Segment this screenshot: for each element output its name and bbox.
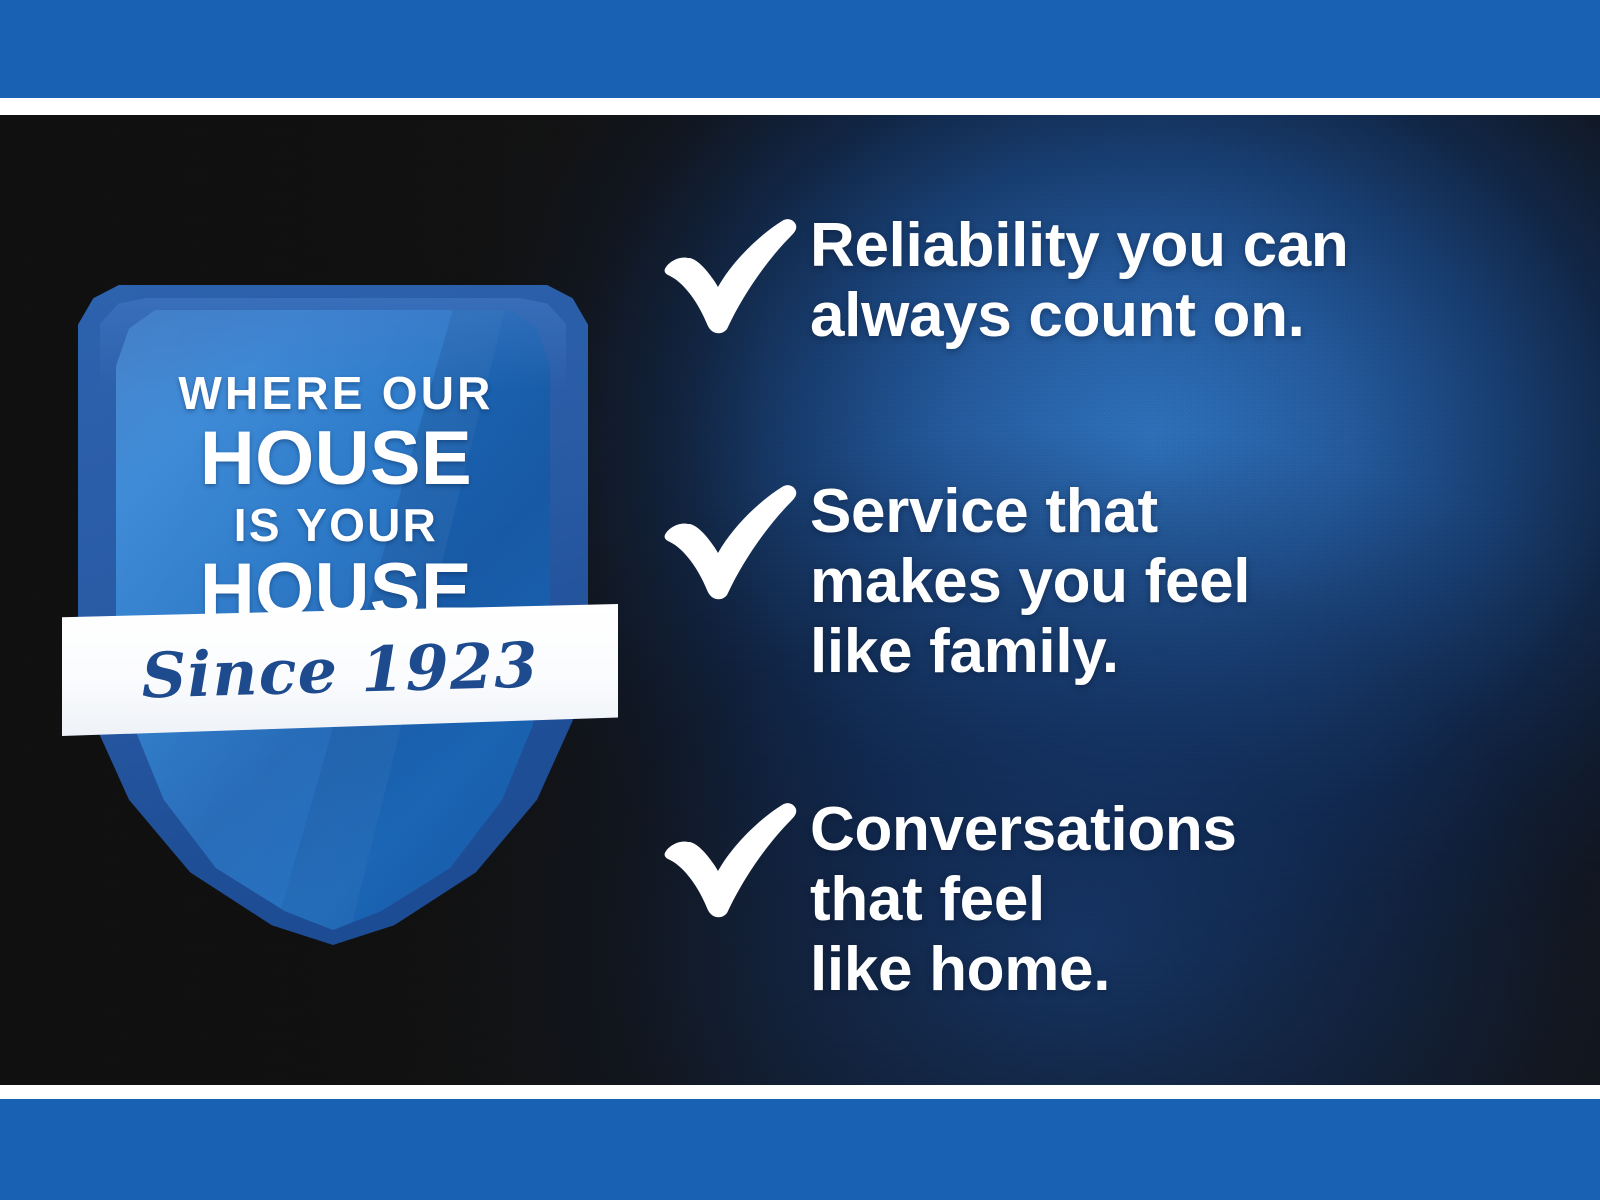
check-icon [660,795,810,919]
check-icon [660,211,810,335]
benefit-item: Conversations that feel like home. [660,795,1237,1004]
benefit-text: Conversations that feel like home. [810,795,1237,1004]
top-brand-bar [0,0,1600,98]
badge-wordmark-line-2: HOUSE [146,421,526,496]
benefit-item: Reliability you can always count on. [660,211,1349,351]
benefits-list: Reliability you can always count on. Ser… [660,115,1540,1085]
badge-wordmark-line-1: WHERE OUR [146,370,526,417]
top-white-gap [0,98,1600,115]
bottom-white-gap [0,1085,1600,1099]
check-icon [660,477,810,601]
benefit-text: Reliability you can always count on. [810,211,1349,351]
bottom-brand-bar [0,1099,1600,1200]
benefit-item: Service that makes you feel like family. [660,477,1250,686]
promo-poster: WHERE OUR HOUSE IS YOUR HOUSE Since 1923… [0,0,1600,1200]
heritage-badge: WHERE OUR HOUSE IS YOUR HOUSE Since 1923 [78,180,620,970]
badge-wordmark-line-3: IS YOUR [146,502,526,549]
badge-ribbon-label: Since 1923 [60,596,619,743]
badge-wordmark: WHERE OUR HOUSE IS YOUR HOUSE [146,370,526,628]
benefit-text: Service that makes you feel like family. [810,477,1250,686]
